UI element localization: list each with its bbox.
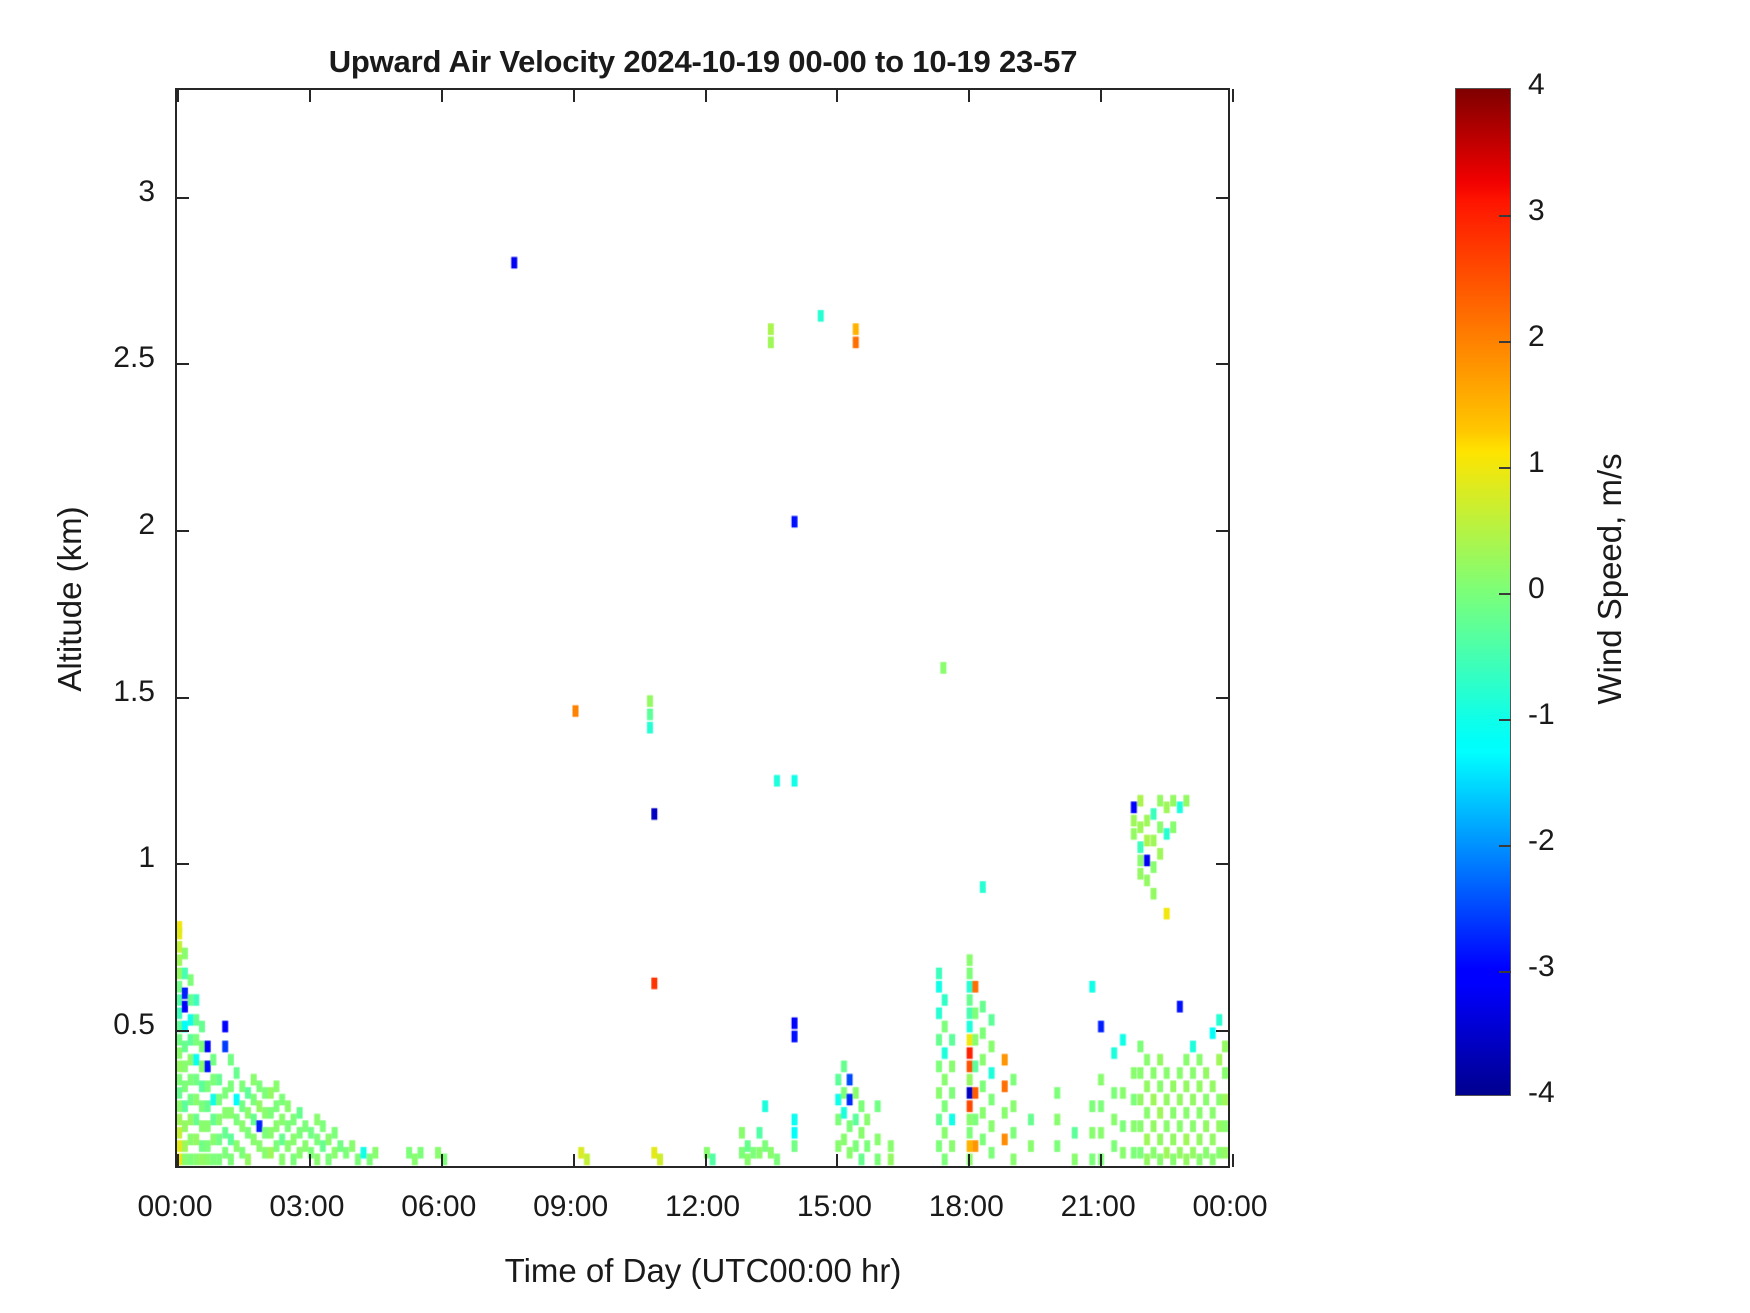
colorbar-tick-mark <box>1499 719 1511 721</box>
x-axis-title: Time of Day (UTC00:00 hr) <box>175 1252 1231 1290</box>
x-tick-mark-top <box>309 89 311 102</box>
y-tick-mark <box>176 697 189 699</box>
x-tick-mark-top <box>968 89 970 102</box>
y-tick-mark <box>176 363 189 365</box>
colorbar-tick-mark <box>1499 341 1511 343</box>
chart-title: Upward Air Velocity 2024-10-19 00-00 to … <box>175 44 1231 80</box>
figure-canvas: Upward Air Velocity 2024-10-19 00-00 to … <box>0 0 1750 1313</box>
y-tick-label: 3 <box>35 175 155 209</box>
y-tick-mark-right <box>1216 363 1229 365</box>
colorbar-tick-mark <box>1499 845 1511 847</box>
y-axis-title: Altitude (km) <box>51 359 89 839</box>
x-tick-label: 00:00 <box>1150 1190 1310 1224</box>
colorbar-tick-label: 0 <box>1528 572 1545 606</box>
x-tick-mark <box>177 1154 179 1167</box>
y-tick-label: 0.5 <box>35 1008 155 1042</box>
y-tick-mark-right <box>1216 863 1229 865</box>
colorbar-tick-label: -3 <box>1528 950 1555 984</box>
colorbar-tick-mark <box>1499 467 1511 469</box>
x-tick-mark-top <box>441 89 443 102</box>
y-tick-mark <box>176 863 189 865</box>
colorbar-tick-mark <box>1499 593 1511 595</box>
x-tick-mark-top <box>573 89 575 102</box>
colorbar-tick-label: -1 <box>1528 698 1555 732</box>
y-tick-label: 1 <box>35 841 155 875</box>
colorbar-tick-label: 4 <box>1528 68 1545 102</box>
x-tick-mark <box>705 1154 707 1167</box>
x-tick-mark <box>1232 1154 1234 1167</box>
y-tick-mark <box>176 1030 189 1032</box>
x-tick-mark-top <box>1232 89 1234 102</box>
x-tick-mark <box>836 1154 838 1167</box>
x-tick-mark <box>1100 1154 1102 1167</box>
x-tick-mark-top <box>836 89 838 102</box>
heatmap-data-layer <box>177 90 1228 1166</box>
x-tick-mark <box>441 1154 443 1167</box>
y-tick-mark-right <box>1216 530 1229 532</box>
y-tick-mark-right <box>1216 697 1229 699</box>
colorbar-tick-label: -2 <box>1528 824 1555 858</box>
y-tick-mark-right <box>1216 197 1229 199</box>
y-tick-mark-right <box>1216 1030 1229 1032</box>
plot-axes <box>175 88 1230 1168</box>
y-tick-mark <box>176 197 189 199</box>
colorbar-tick-label: -4 <box>1528 1076 1555 1110</box>
colorbar-tick-mark <box>1499 971 1511 973</box>
x-tick-mark <box>573 1154 575 1167</box>
x-tick-mark-top <box>1100 89 1102 102</box>
colorbar <box>1455 88 1511 1096</box>
x-tick-mark <box>968 1154 970 1167</box>
y-tick-mark <box>176 530 189 532</box>
x-tick-mark-top <box>177 89 179 102</box>
x-tick-mark <box>309 1154 311 1167</box>
colorbar-tick-label: 2 <box>1528 320 1545 354</box>
colorbar-tick-label: 1 <box>1528 446 1545 480</box>
colorbar-tick-label: 3 <box>1528 194 1545 228</box>
colorbar-tick-mark <box>1499 215 1511 217</box>
colorbar-gradient <box>1456 89 1510 1095</box>
colorbar-title: Wind Speed, m/s <box>1591 369 1629 789</box>
x-tick-mark-top <box>705 89 707 102</box>
